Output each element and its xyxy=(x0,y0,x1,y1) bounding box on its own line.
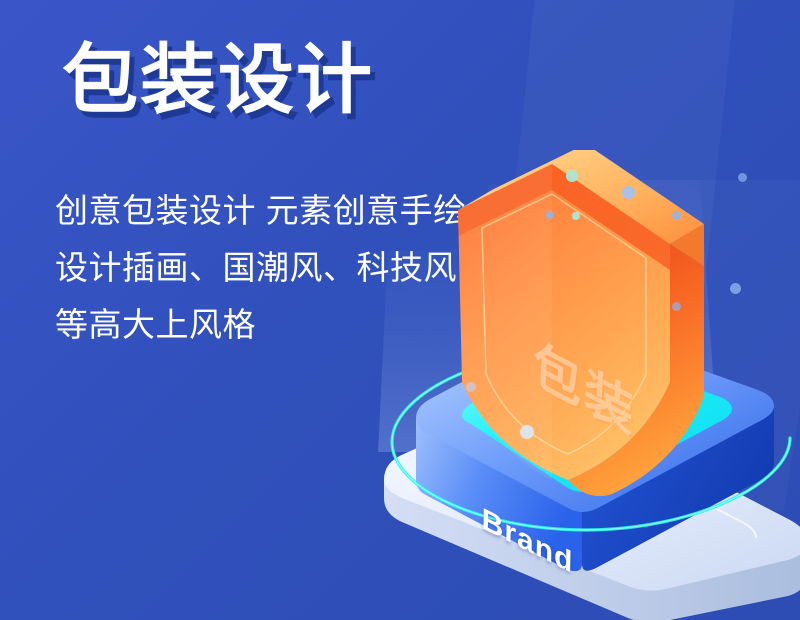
decorative-dot xyxy=(546,211,554,219)
promo-banner: 包装设计 创意包装设计 元素创意手绘 设计插画、国潮风、科技风 等高大上风格 xyxy=(0,0,800,620)
decorative-dot xyxy=(672,302,681,311)
decorative-dot xyxy=(730,283,741,294)
isometric-shield-graphic xyxy=(370,150,800,620)
decorative-dot xyxy=(622,186,635,199)
decorative-dot xyxy=(672,211,681,220)
decorative-dot xyxy=(738,173,747,182)
decorative-dot xyxy=(572,212,580,220)
hero-illustration: 包装 Brand xyxy=(370,150,800,620)
decorative-dot xyxy=(466,382,476,392)
decorative-dot xyxy=(520,425,534,439)
accent-dot-mint xyxy=(566,170,578,182)
page-title: 包装设计 xyxy=(62,40,374,122)
